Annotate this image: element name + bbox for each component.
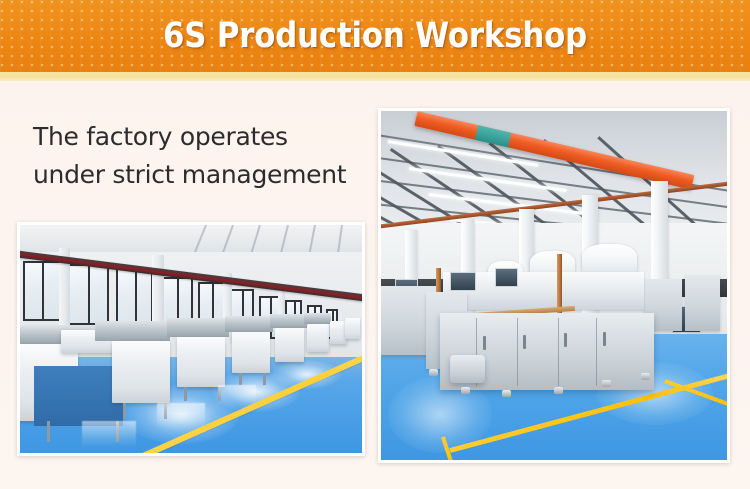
crane-trolley bbox=[475, 125, 512, 147]
cabinet-handle bbox=[564, 333, 567, 347]
workshop-packaging-hall-photo bbox=[378, 108, 730, 463]
machine-unit bbox=[345, 318, 360, 339]
caster-wheel bbox=[461, 387, 470, 394]
caster-wheel bbox=[554, 387, 563, 394]
cabinet-handle bbox=[483, 336, 486, 350]
machine-unit bbox=[232, 332, 270, 373]
headline-line-1: The factory operates bbox=[33, 118, 363, 156]
workshop-packaging-hall-scene bbox=[381, 111, 727, 460]
caster-wheel bbox=[602, 380, 611, 387]
control-screen bbox=[495, 268, 518, 287]
promo-banner-page: 6S Production Workshop The factory opera… bbox=[0, 0, 750, 489]
window bbox=[68, 264, 109, 326]
machine-unit bbox=[307, 324, 329, 351]
headline: The factory operates under strict manage… bbox=[33, 118, 363, 194]
banner-underline bbox=[0, 72, 750, 81]
page-title: 6S Production Workshop bbox=[45, 0, 705, 72]
header-banner: 6S Production Workshop bbox=[0, 0, 750, 72]
machine-unit bbox=[112, 341, 170, 403]
machine-unit bbox=[275, 328, 304, 362]
headline-line-2: under strict management bbox=[33, 156, 363, 194]
caster-wheel bbox=[429, 369, 438, 376]
workshop-machine-line-scene bbox=[20, 225, 362, 453]
caster-wheel bbox=[502, 390, 511, 397]
window bbox=[23, 261, 61, 320]
machine-hood bbox=[582, 244, 637, 275]
machine-roller bbox=[450, 355, 485, 383]
background-machine bbox=[685, 275, 720, 331]
cabinet-handle bbox=[523, 335, 526, 349]
cabinet-handle bbox=[603, 332, 606, 346]
window bbox=[116, 268, 154, 327]
caster-wheel bbox=[641, 373, 650, 380]
machine-unit bbox=[177, 337, 225, 387]
workshop-machine-line-photo bbox=[17, 222, 365, 456]
control-screen bbox=[450, 272, 476, 291]
